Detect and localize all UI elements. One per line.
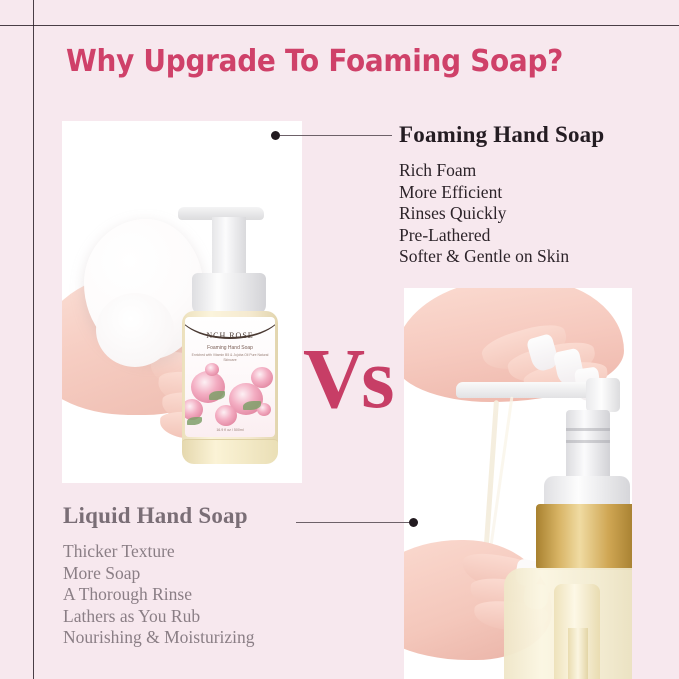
page-title: Why Upgrade To Foaming Soap? — [66, 44, 563, 79]
foaming-bottle-label: NCH ROSE Foaming Hand Soap Enriched with… — [185, 317, 275, 437]
liquid-heading: Liquid Hand Soap — [63, 503, 363, 529]
list-item: Lathers as You Rub — [63, 606, 363, 628]
list-item: Rinses Quickly — [399, 203, 671, 225]
liquid-text-block: Liquid Hand Soap Thicker Texture More So… — [63, 503, 363, 649]
list-item: Softer & Gentle on Skin — [399, 246, 671, 268]
list-item: A Thorough Rinse — [63, 584, 363, 606]
frame-vertical-rule — [33, 0, 34, 679]
dip-tube-lower — [568, 628, 588, 679]
rose-graphic — [205, 363, 219, 376]
liquid-pump-head — [586, 378, 620, 412]
liquid-pump-stem — [566, 410, 610, 484]
list-item: Nourishing & Moisturizing — [63, 627, 363, 649]
versus-label: Vs — [303, 335, 391, 421]
liquid-soap-photo — [404, 288, 632, 679]
list-item: More Efficient — [399, 182, 671, 204]
foaming-heading: Foaming Hand Soap — [399, 122, 671, 148]
gold-collar — [536, 504, 632, 570]
list-item: Pre-Lathered — [399, 225, 671, 247]
frame-horizontal-rule — [0, 25, 679, 26]
list-item: More Soap — [63, 563, 363, 585]
foaming-bottle-base — [182, 439, 278, 464]
list-item: Thicker Texture — [63, 541, 363, 563]
label-volume-text: 16.9 fl oz / 500ml — [185, 428, 275, 432]
label-product-text: Foaming Hand Soap — [185, 345, 275, 351]
foaming-connector-dot — [271, 131, 280, 140]
foaming-text-block: Foaming Hand Soap Rich Foam More Efficie… — [399, 122, 671, 268]
rose-graphic — [215, 405, 237, 426]
list-item: Rich Foam — [399, 160, 671, 182]
label-fine-print: Enriched with Vitamin B5 & Jojoba Oil Pu… — [185, 353, 275, 363]
infographic-page: Why Upgrade To Foaming Soap? NCH ROSE Fo… — [0, 0, 679, 679]
foaming-pump-neck — [212, 217, 246, 279]
foaming-benefit-list: Rich Foam More Efficient Rinses Quickly … — [399, 160, 671, 268]
label-brand-text: NCH ROSE — [185, 331, 275, 340]
foaming-connector-line — [280, 135, 392, 136]
liquid-benefit-list: Thicker Texture More Soap A Thorough Rin… — [63, 541, 363, 649]
leaf-graphic — [187, 417, 202, 425]
foaming-soap-photo: NCH ROSE Foaming Hand Soap Enriched with… — [62, 121, 302, 483]
liquid-connector-dot — [409, 518, 418, 527]
foaming-pump-collar — [192, 273, 266, 315]
leaf-graphic — [209, 391, 225, 400]
rose-graphic — [251, 367, 273, 388]
